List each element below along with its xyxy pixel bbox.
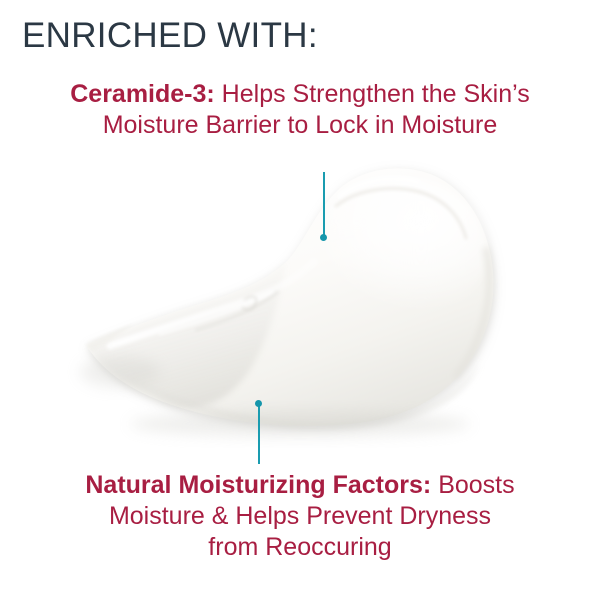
pointer-line-nmf [258,404,260,464]
benefit-line-1: Ceramide-3: Helps Strengthen the Skin’s [14,79,586,110]
benefit-desc-ceramide-1: Helps Strengthen the Skin’s [215,80,530,108]
benefit-line-1-nmf: Natural Moisturizing Factors: Boosts [14,470,586,501]
pointer-dot-nmf [255,400,262,407]
ingredient-name-nmf: Natural Moisturizing Factors: [85,471,431,499]
benefit-desc-ceramide-2: Moisture Barrier to Lock in Moisture [14,110,586,141]
infographic-canvas: ENRICHED WITH: Ceramide-3: Helps Strengt… [0,0,600,600]
benefit-desc-nmf-1: Boosts [431,471,514,499]
ingredient-name-ceramide: Ceramide-3: [70,80,215,108]
benefit-text-nmf: Natural Moisturizing Factors: Boosts Moi… [0,470,600,563]
benefit-text-ceramide: Ceramide-3: Helps Strengthen the Skin’s … [0,79,600,141]
benefit-desc-nmf-3: from Reoccuring [14,532,586,563]
benefit-desc-nmf-2: Moisture & Helps Prevent Dryness [14,501,586,532]
pointer-line-ceramide [323,172,325,240]
page-title: ENRICHED WITH: [22,14,318,58]
pointer-dot-ceramide [320,234,327,241]
